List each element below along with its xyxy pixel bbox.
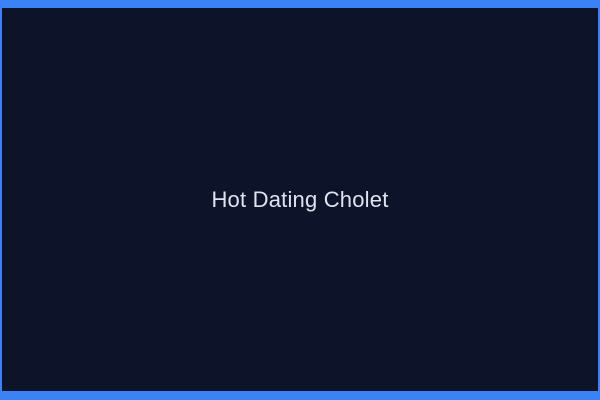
bottom-accent-bar [2, 391, 598, 400]
top-accent-bar [2, 0, 598, 8]
placeholder-canvas: Hot Dating Cholet [2, 8, 598, 391]
placeholder-image-frame: Hot Dating Cholet [0, 0, 600, 400]
placeholder-label: Hot Dating Cholet [211, 189, 388, 211]
